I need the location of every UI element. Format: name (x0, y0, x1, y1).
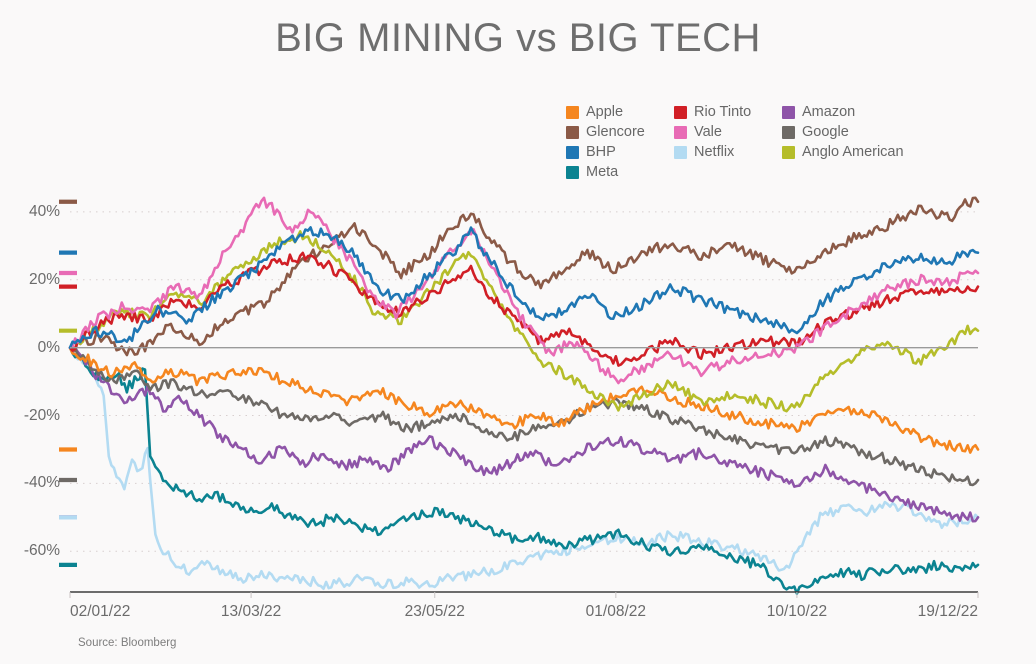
x-tick-3: 01/08/22 (586, 603, 646, 621)
series-line-glencore (70, 198, 978, 355)
series-line-netflix (70, 348, 978, 589)
y-tick-40: 40% (4, 203, 60, 221)
x-tick-5: 19/12/22 (918, 603, 978, 621)
x-tick-2: 23/05/22 (405, 603, 465, 621)
source-note: Source: Bloomberg (78, 637, 176, 649)
series-line-meta (70, 348, 978, 594)
series-line-vale (70, 198, 978, 383)
y-tick-20: 20% (4, 271, 60, 289)
y-tick-0: 0% (4, 339, 60, 357)
x-tick-0: 02/01/22 (70, 603, 130, 621)
plot-svg (0, 0, 1036, 664)
x-tick-4: 10/10/22 (767, 603, 827, 621)
plot-area: 40%20%0%-20%-40%-60% 02/01/2213/03/2223/… (0, 0, 1036, 664)
y-tick--60: -60% (4, 542, 60, 560)
y-tick--20: -20% (4, 407, 60, 425)
y-tick--40: -40% (4, 474, 60, 492)
x-tick-1: 13/03/22 (221, 603, 281, 621)
chart-root: BIG MINING vs BIG TECH AppleRio TintoAma… (0, 0, 1036, 664)
